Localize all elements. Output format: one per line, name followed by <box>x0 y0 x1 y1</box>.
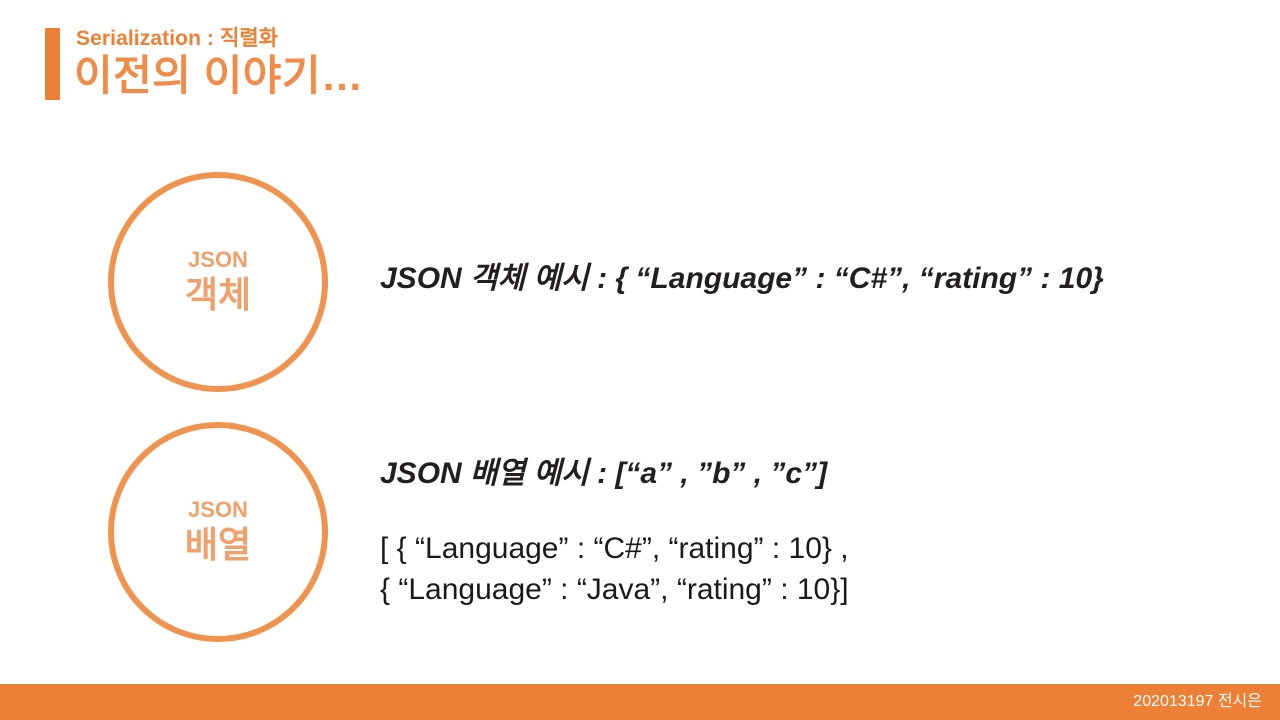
json-array-circle-label: 배열 <box>185 524 251 565</box>
page-title: 이전의 이야기… <box>74 52 364 100</box>
json-object-circle-label: 객체 <box>185 274 251 315</box>
slide-canvas: Serialization : 직렬화 이전의 이야기… JSON 객체 JSO… <box>0 0 1280 720</box>
json-array-example-text: JSON 배열 예시 : [“a” , ”b” , ”c”] <box>380 456 827 492</box>
footer-bar <box>0 684 1280 720</box>
json-object-example-text: JSON 객체 예시 : { “Language” : “C#”, “ratin… <box>380 261 1104 297</box>
json-object-circle-kicker: JSON <box>188 248 248 272</box>
json-object-circle: JSON 객체 <box>108 172 328 392</box>
title-eyebrow: Serialization : 직렬화 <box>76 27 278 50</box>
json-array-code-block: [ { “Language” : “C#”, “rating” : 10} , … <box>380 528 849 611</box>
json-array-circle-kicker: JSON <box>188 498 248 522</box>
json-array-circle: JSON 배열 <box>108 422 328 642</box>
footer-credit: 202013197 전시은 <box>1133 692 1262 713</box>
title-accent-bar <box>45 28 60 100</box>
